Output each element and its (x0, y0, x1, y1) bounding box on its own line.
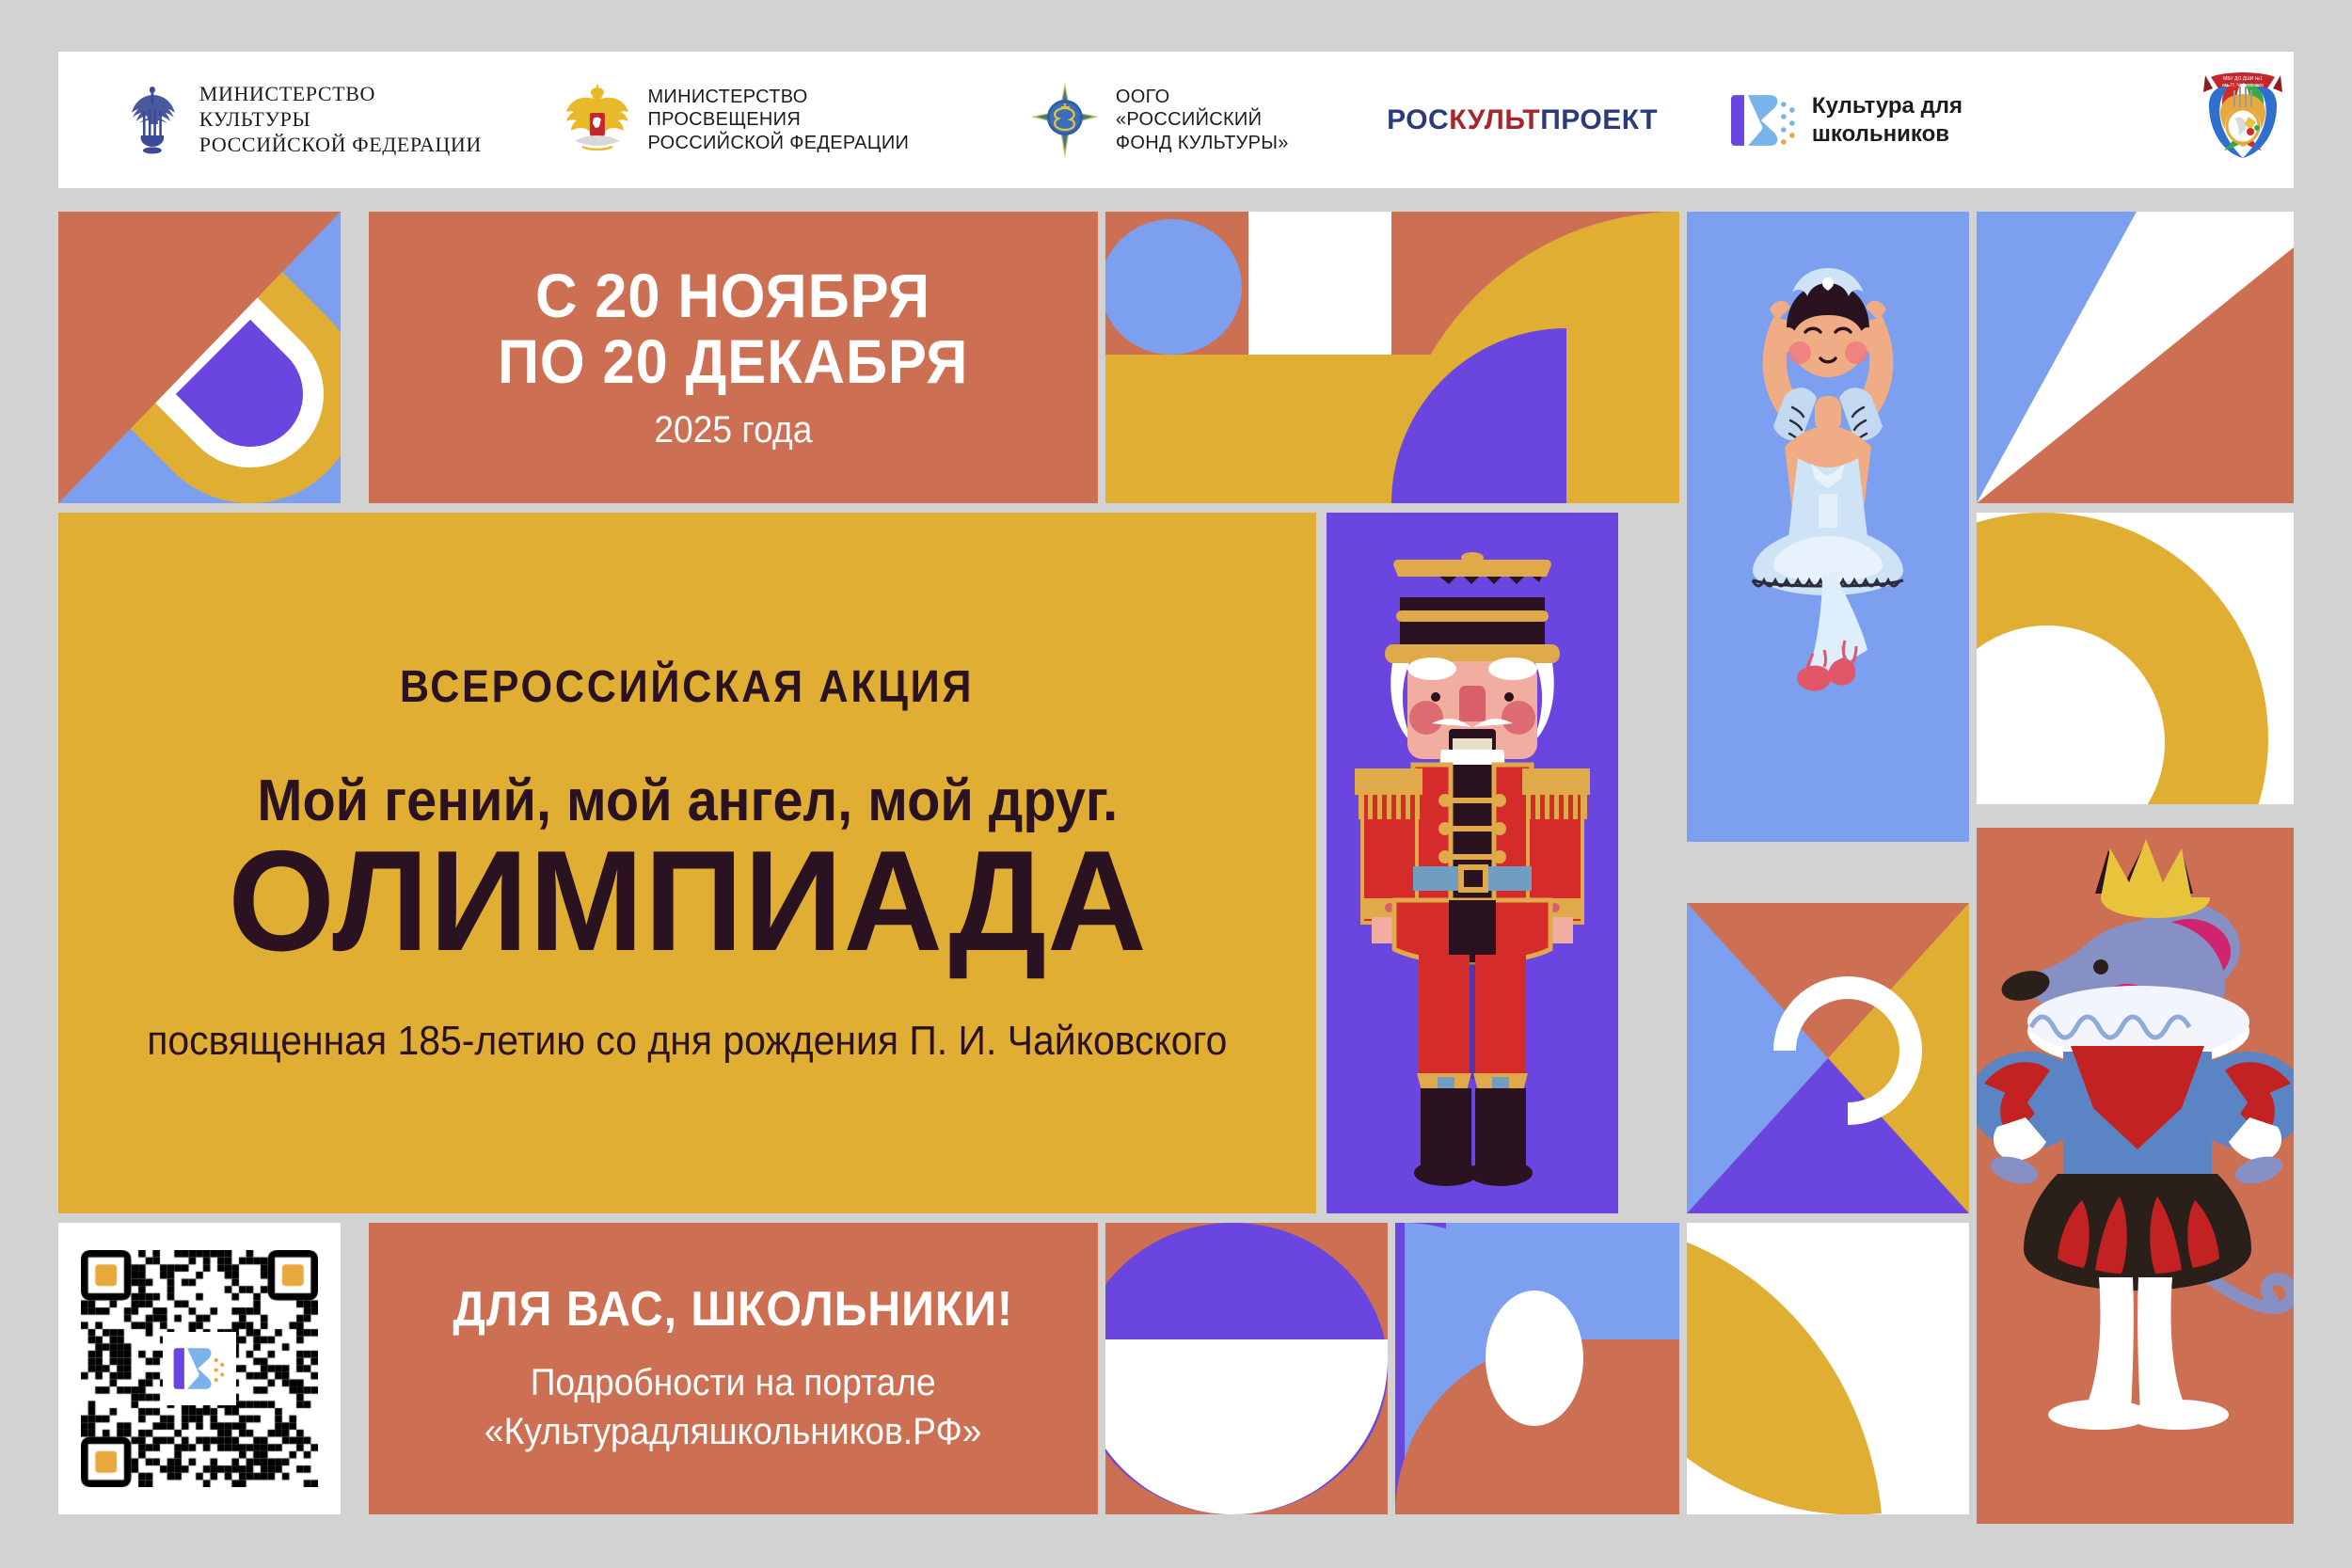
roskultproject-wordmark: РОСКУЛЬТПРОЕКТ (1387, 104, 1658, 136)
logo-label: МИНИСТЕРСТВО КУЛЬТУРЫ РОССИЙСКОЙ ФЕДЕРАЦ… (199, 82, 492, 157)
decor-tile-yellow-arc (1977, 513, 2294, 804)
main-title-block: ВСЕРОССИЙСКАЯ АКЦИЯ Мой гений, мой ангел… (58, 513, 1316, 1213)
terracotta-triangle-shape (1977, 247, 2294, 503)
nutcracker-illustration (1327, 513, 1618, 1213)
decor-tile-diagonals (1977, 212, 2294, 503)
decor-tile-purple-oval (1105, 1223, 1388, 1514)
qr-code[interactable] (81, 1250, 318, 1487)
nutcracker-figure-icon (1327, 513, 1618, 1213)
qr-code-block[interactable] (58, 1223, 341, 1514)
logo-ministry-of-culture: МИНИСТЕРСТВО КУЛЬТУРЫ РОССИЙСКОЙ ФЕДЕРАЦ… (119, 82, 492, 157)
white-half-oval-shape (1105, 1339, 1388, 1514)
yellow-leaf-shape (1687, 1223, 1882, 1514)
blue-circle-shape (1105, 219, 1242, 355)
coat-of-arms-lyre-icon (119, 83, 186, 156)
white-ellipse-shape (1486, 1291, 1583, 1426)
logo-label: МИНИСТЕРСТВО ПРОСВЕЩЕНИЯ РОССИЙСКОЙ ФЕДЕ… (647, 86, 965, 154)
poster: МИНИСТЕРСТВО КУЛЬТУРЫ РОССИЙСКОЙ ФЕДЕРАЦ… (0, 0, 2352, 1568)
kicker-text: ВСЕРОССИЙСКАЯ АКЦИЯ (400, 661, 974, 713)
double-headed-eagle-icon (560, 83, 635, 158)
decor-tile-blue-orange (1395, 1223, 1679, 1514)
svg-text:МБУ ДО ДШИ №1: МБУ ДО ДШИ №1 (2223, 76, 2263, 82)
cta-details: Подробности на портале «Культурадляшколь… (485, 1358, 982, 1456)
cta-block: ДЛЯ ВАС, ШКОЛЬНИКИ! Подробности на порта… (369, 1223, 1098, 1514)
ballerina-figure-icon (1687, 212, 1969, 842)
mouse-king-figure-icon (1977, 828, 2294, 1524)
lyre-emblem-icon: МБУ ДО ДШИ №1 им. П. Чайковского (2192, 71, 2294, 169)
sponsor-logo-bar: МИНИСТЕРСТВО КУЛЬТУРЫ РОССИЙСКОЙ ФЕДЕРАЦ… (58, 52, 2294, 188)
logo-culture-for-schoolchildren: Культура для школьников (1727, 91, 2106, 150)
cta-heading: ДЛЯ ВАС, ШКОЛЬНИКИ! (453, 1281, 1014, 1338)
svg-text:им. П. Чайковского: им. П. Чайковского (2222, 82, 2264, 88)
date-block: С 20 НОЯБРЯ ПО 20 ДЕКАБРЯ 2025 года (369, 212, 1098, 503)
portal-url: «Культурадляшкольников.РФ» (485, 1407, 982, 1456)
decor-tile-yellow-leaf (1687, 1223, 1969, 1514)
mouse-king-illustration (1977, 828, 2294, 1524)
logo-russian-culture-fund: ООГО «РОССИЙСКИЙ ФОНД КУЛЬТУРЫ» (1027, 83, 1321, 158)
logo-label: Культура для школьников (1812, 92, 2106, 149)
logo-roskultproject: РОСКУЛЬТПРОЕКТ (1387, 104, 1658, 136)
logo-ministry-of-education: МИНИСТЕРСТВО ПРОСВЕЩЕНИЯ РОССИЙСКОЙ ФЕДЕ… (560, 83, 965, 158)
qr-center-logo (163, 1332, 236, 1405)
starburst-emblem-icon (1027, 83, 1103, 158)
white-square-shape (1248, 212, 1391, 355)
decor-tile-four-triangles (1687, 903, 1969, 1213)
decor-tile-circle-quarters (1105, 212, 1679, 503)
page-title: ОЛИМПИАДА (228, 834, 1147, 969)
kds-bracket-icon (170, 1345, 229, 1392)
purple-triangle-shape (1687, 1058, 1969, 1213)
date-range: С 20 НОЯБРЯ ПО 20 ДЕКАБРЯ (498, 263, 968, 395)
ballerina-illustration (1687, 212, 1969, 842)
decor-tile-arc-triangle (58, 212, 341, 503)
terracotta-triangle-shape (58, 212, 341, 503)
logo-label: ООГО «РОССИЙСКИЙ ФОНД КУЛЬТУРЫ» (1116, 86, 1321, 154)
logo-dshi-tchaikovsky: МБУ ДО ДШИ №1 им. П. Чайковского (2192, 71, 2294, 169)
date-year: 2025 года (654, 409, 812, 451)
subtitle-text: посвященная 185-летию со дня рождения П.… (147, 1018, 1227, 1065)
kds-bracket-icon (1727, 91, 1799, 150)
